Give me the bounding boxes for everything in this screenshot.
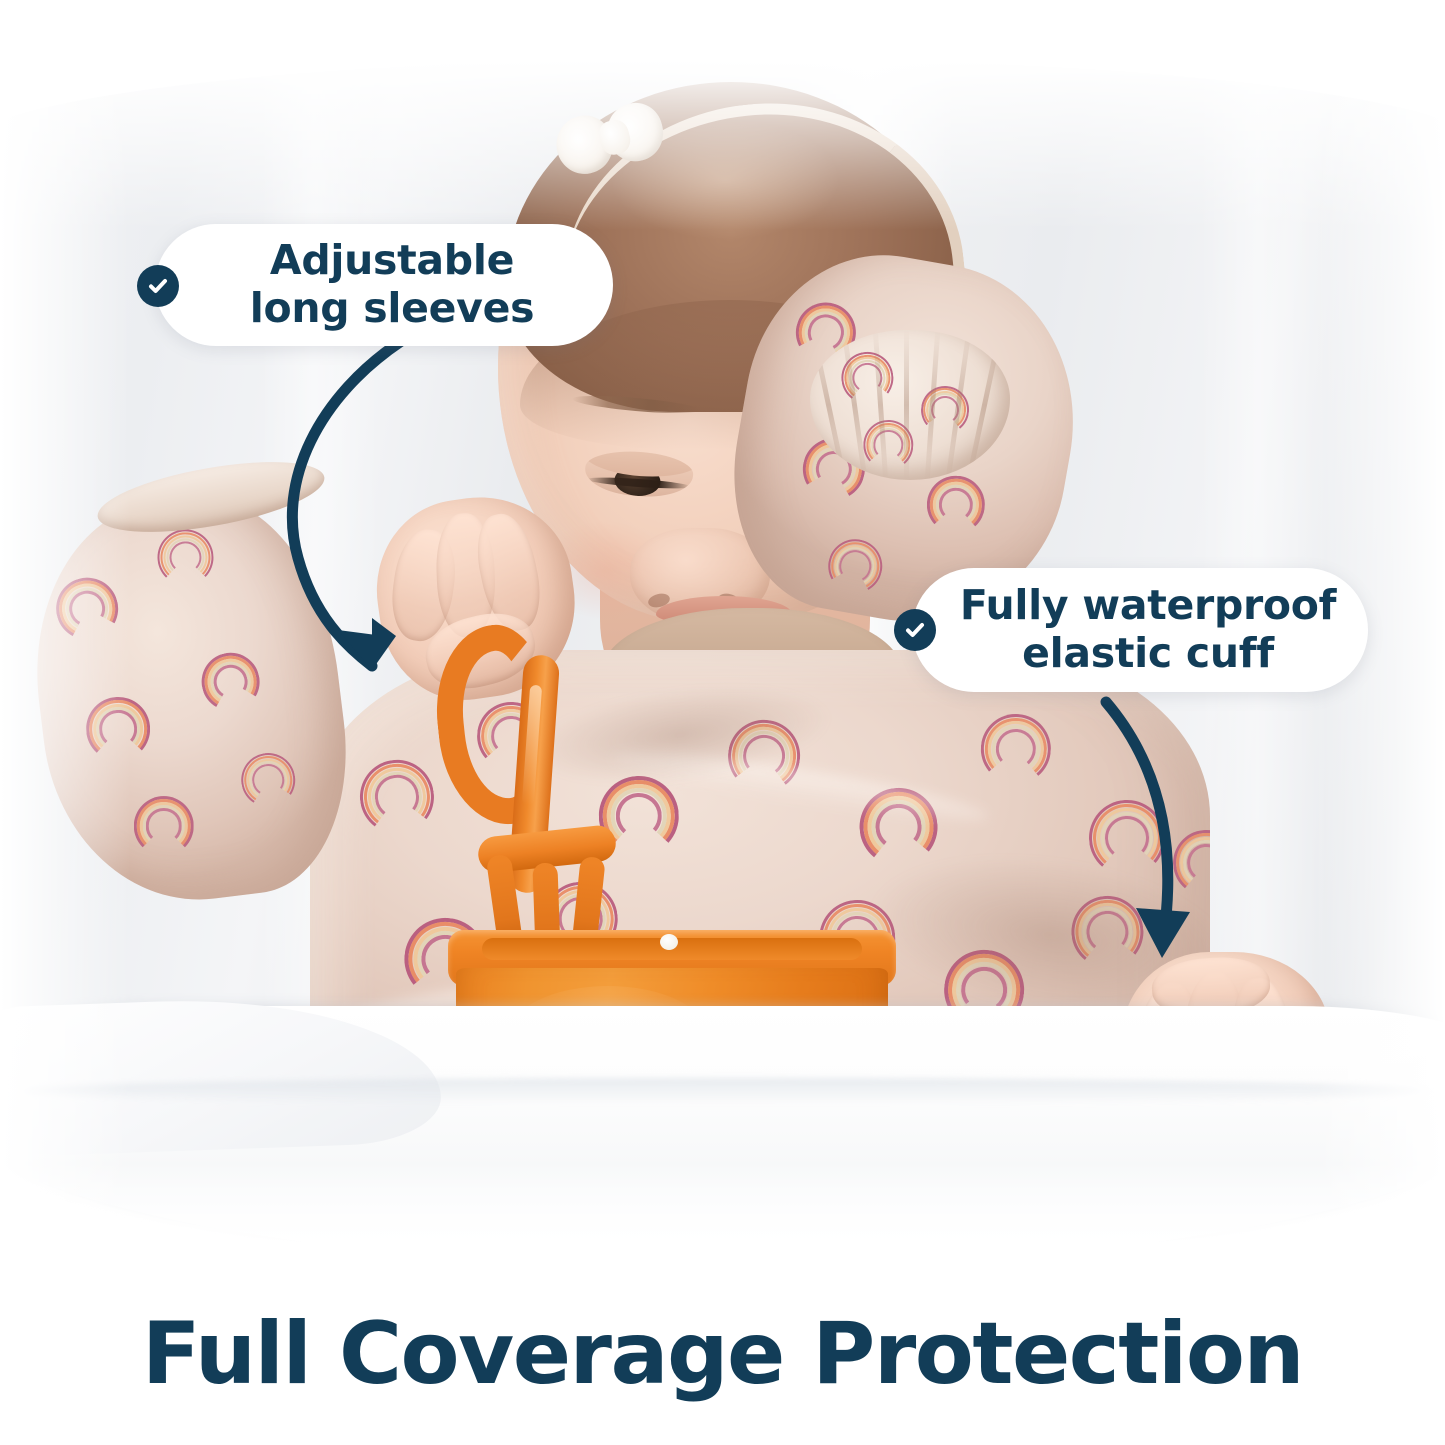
headline-band: Full Coverage Protection bbox=[0, 1262, 1445, 1445]
rainbow-motif bbox=[828, 533, 889, 580]
page-title: Full Coverage Protection bbox=[142, 1304, 1303, 1404]
check-circle-icon bbox=[894, 609, 936, 651]
rainbow-motif bbox=[157, 529, 214, 565]
callout-label-sleeves: Adjustable long sleeves bbox=[208, 237, 560, 332]
rainbow-motif bbox=[236, 748, 296, 792]
tray-front-edge bbox=[20, 1078, 1430, 1104]
callout-label-cuff: Fully waterproof elastic cuff bbox=[918, 582, 1362, 677]
rainbow-motif bbox=[980, 711, 1054, 760]
silicone-fork bbox=[430, 625, 650, 970]
left-vignette bbox=[0, 0, 130, 1260]
callout-arrow-cuff bbox=[1090, 690, 1260, 980]
callout-pill-cuff: Fully waterproof elastic cuff bbox=[912, 568, 1368, 692]
callout-arrow-sleeves bbox=[268, 330, 458, 680]
food-speck bbox=[660, 934, 678, 950]
tray-fade bbox=[0, 1160, 1445, 1260]
rainbow-motif bbox=[134, 796, 194, 833]
rainbow-motif bbox=[927, 474, 987, 513]
product-feature-image: Adjustable long sleeves Fully waterproof… bbox=[0, 0, 1445, 1445]
rainbow-motif bbox=[355, 755, 435, 811]
rainbow-motif bbox=[195, 646, 260, 696]
callout-pill-sleeves: Adjustable long sleeves bbox=[155, 224, 613, 346]
cuff-gather-line bbox=[904, 330, 909, 480]
top-vignette bbox=[0, 0, 1445, 230]
check-circle-icon bbox=[137, 265, 179, 307]
rainbow-motif bbox=[921, 384, 972, 419]
